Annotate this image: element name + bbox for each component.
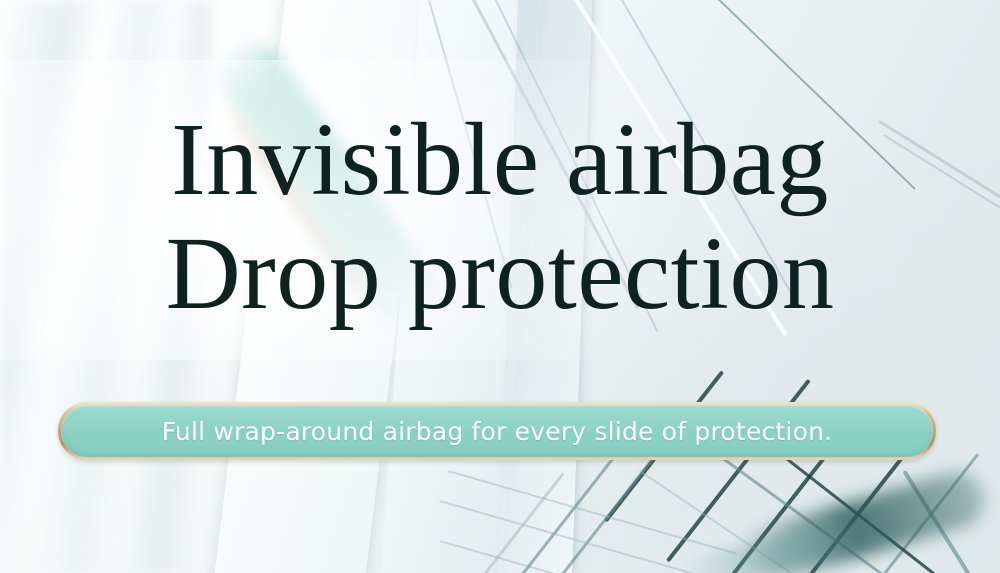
subtitle-pill: Full wrap-around airbag for every slide … [58, 402, 936, 460]
headline-line-1: Invisible airbag [0, 108, 1000, 212]
promo-banner: Invisible airbag Drop protection Full wr… [0, 0, 1000, 573]
subtitle-pill-inner: Full wrap-around airbag for every slide … [61, 405, 933, 457]
subtitle-text: Full wrap-around airbag for every slide … [162, 417, 833, 446]
headline-line-2: Drop protection [0, 222, 1000, 326]
page-title: Invisible airbag Drop protection [0, 108, 1000, 326]
